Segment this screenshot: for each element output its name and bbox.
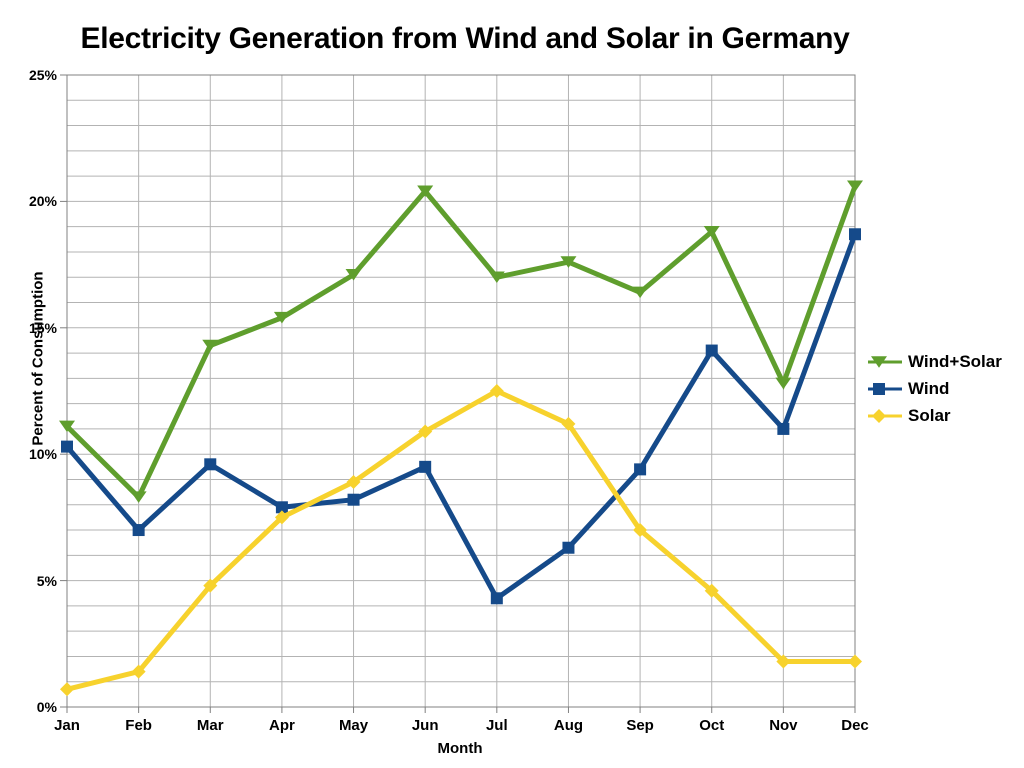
x-axis-tick-label: Apr bbox=[252, 717, 312, 734]
data-point-marker bbox=[873, 383, 885, 395]
y-axis-tick-label: 20% bbox=[0, 193, 57, 209]
data-point-marker bbox=[562, 542, 574, 554]
data-point-marker bbox=[706, 345, 718, 357]
x-axis-tick-label: Oct bbox=[682, 717, 742, 734]
data-point-marker bbox=[133, 524, 145, 536]
data-point-marker bbox=[61, 441, 73, 453]
data-point-marker bbox=[849, 228, 861, 240]
data-point-marker bbox=[491, 592, 503, 604]
x-axis-tick-label: Feb bbox=[109, 717, 169, 734]
x-axis-tick-label: Aug bbox=[538, 717, 598, 734]
data-point-marker bbox=[204, 458, 216, 470]
legend-label: Wind+Solar bbox=[908, 352, 1002, 372]
x-axis-title: Month bbox=[60, 740, 860, 757]
chart-container: Electricity Generation from Wind and Sol… bbox=[0, 0, 1024, 768]
y-axis-title: Percent of Consumption bbox=[30, 249, 47, 469]
legend-label: Solar bbox=[908, 406, 951, 426]
data-point-marker bbox=[419, 461, 431, 473]
x-axis-tick-label: Mar bbox=[180, 717, 240, 734]
x-axis-tick-label: Sep bbox=[610, 717, 670, 734]
x-axis-tick-label: Jun bbox=[395, 717, 455, 734]
data-point-marker bbox=[348, 494, 360, 506]
x-axis-tick-label: May bbox=[324, 717, 384, 734]
data-point-marker bbox=[777, 423, 789, 435]
x-axis-tick-label: Jul bbox=[467, 717, 527, 734]
legend-item-wind-solar[interactable]: Wind+Solar bbox=[868, 348, 1002, 375]
data-point-marker bbox=[871, 356, 887, 368]
legend-swatch bbox=[868, 406, 902, 426]
legend-marker-icon bbox=[868, 378, 890, 400]
y-axis-tick-label: 0% bbox=[0, 699, 57, 715]
y-axis-tick-label: 25% bbox=[0, 67, 57, 83]
legend-marker-icon bbox=[868, 405, 890, 427]
x-axis-tick-label: Jan bbox=[37, 717, 97, 734]
legend-label: Wind bbox=[908, 379, 949, 399]
legend-swatch bbox=[868, 379, 902, 399]
y-axis-tick-label: 15% bbox=[0, 320, 57, 336]
data-point-marker bbox=[634, 463, 646, 475]
x-axis-tick-label: Dec bbox=[825, 717, 885, 734]
chart-legend: Wind+SolarWindSolar bbox=[868, 348, 1002, 429]
legend-marker-icon bbox=[868, 351, 890, 373]
legend-item-solar[interactable]: Solar bbox=[868, 402, 1002, 429]
chart-title: Electricity Generation from Wind and Sol… bbox=[0, 22, 930, 56]
y-axis-tick-label: 5% bbox=[0, 573, 57, 589]
x-axis-tick-label: Nov bbox=[753, 717, 813, 734]
data-point-marker bbox=[872, 409, 886, 423]
legend-item-wind[interactable]: Wind bbox=[868, 375, 1002, 402]
legend-swatch bbox=[868, 352, 902, 372]
y-axis-tick-label: 10% bbox=[0, 446, 57, 462]
